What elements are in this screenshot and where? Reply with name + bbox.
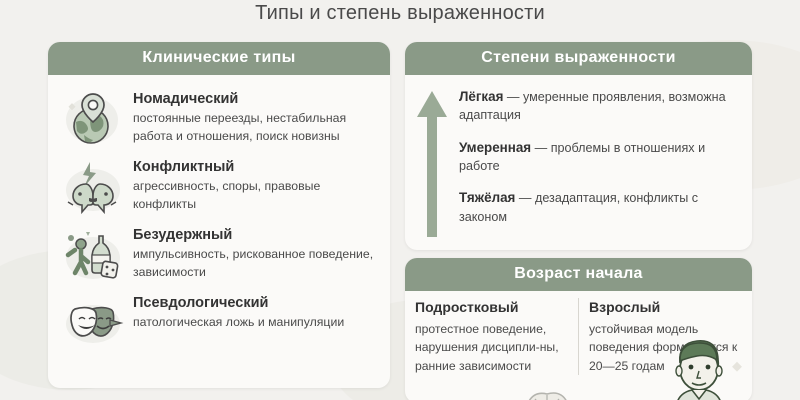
man-face-icon xyxy=(662,333,748,400)
list-item: Умеренная — проблемы в отношениях и рабо… xyxy=(459,138,742,176)
type-description: постоянные переезды, нестабильная работа… xyxy=(133,110,378,145)
page-title: Типы и степень выраженности xyxy=(0,2,800,25)
age-column-name: Взрослый xyxy=(589,298,742,316)
severity-dash: — xyxy=(535,141,548,155)
type-name: Конфликтный xyxy=(133,158,378,176)
severity-label: Лёгкая xyxy=(459,89,503,104)
brain-icon xyxy=(501,381,597,400)
list-item-text: Номадический постоянные переезды, нестаб… xyxy=(133,88,378,145)
severity-label: Умеренная xyxy=(459,140,531,155)
age-of-onset-card: Возраст начала Подростковый протестное п… xyxy=(405,258,752,400)
severity-line: Умеренная — проблемы в отношениях и рабо… xyxy=(459,138,742,176)
theater-masks-icon xyxy=(62,292,124,352)
clinical-types-body: Номадический постоянные переезды, нестаб… xyxy=(48,75,390,361)
list-item: Конфликтный агрессивность, споры, правов… xyxy=(58,151,380,219)
type-description: агрессивность, споры, правовые конфликты xyxy=(133,178,378,213)
up-arrow-icon xyxy=(411,85,453,239)
type-description: патологическая ложь и манипуляции xyxy=(133,314,344,331)
clinical-types-header: Клинические типы xyxy=(48,42,390,75)
severity-dash: — xyxy=(507,90,520,104)
list-item-text: Псевдологический патологическая ложь и м… xyxy=(133,292,344,332)
severity-line: Тяжёлая — дезадаптация, конфликты с зако… xyxy=(459,188,742,226)
list-item: Псевдологический патологическая ложь и м… xyxy=(58,287,380,355)
list-item: Тяжёлая — дезадаптация, конфликты с зако… xyxy=(459,188,742,226)
list-item-text: Безудержный импульсивность, рискованное … xyxy=(133,224,378,281)
age-of-onset-body: Подростковый протестное поведение, наруш… xyxy=(405,291,752,375)
severity-dash: — xyxy=(519,191,532,205)
age-column-name: Подростковый xyxy=(415,298,568,316)
severity-line: Лёгкая — умеренные проявления, возможна … xyxy=(459,87,742,125)
severity-label: Тяжёлая xyxy=(459,190,515,205)
list-item: Безудержный импульсивность, рискованное … xyxy=(58,219,380,287)
age-column-description: протестное поведение, нарушения дисципли… xyxy=(415,320,568,375)
clinical-types-card: Клинические типы Номадический постоянные… xyxy=(48,42,390,388)
list-item: Лёгкая — умеренные проявления, возможна … xyxy=(459,87,742,125)
two-heads-arguing-icon xyxy=(62,156,124,216)
age-column-adolescent: Подростковый протестное поведение, наруш… xyxy=(405,298,578,375)
severity-header: Степени выраженности xyxy=(405,42,752,75)
type-name: Номадический xyxy=(133,90,378,108)
type-description: импульсивность, рискованное поведение, з… xyxy=(133,246,378,281)
age-of-onset-header: Возраст начала xyxy=(405,258,752,291)
list-item-text: Конфликтный агрессивность, споры, правов… xyxy=(133,156,378,213)
globe-location-pin-icon xyxy=(62,88,124,148)
severity-list: Лёгкая — умеренные проявления, возможна … xyxy=(459,85,742,239)
type-name: Псевдологический xyxy=(133,294,344,312)
type-name: Безудержный xyxy=(133,226,378,244)
list-item: Номадический постоянные переезды, нестаб… xyxy=(58,83,380,151)
running-person-bottle-dice-icon xyxy=(62,224,124,284)
severity-body: Лёгкая — умеренные проявления, возможна … xyxy=(405,75,752,245)
severity-card: Степени выраженности Лёгкая — умеренные … xyxy=(405,42,752,250)
